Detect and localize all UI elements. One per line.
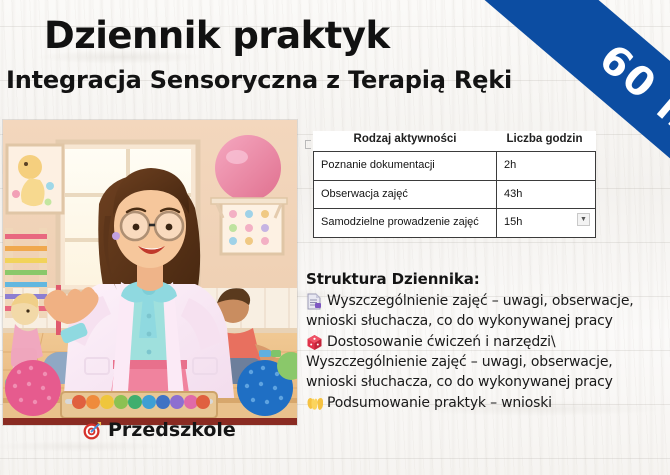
cell-hours: 43h: [497, 180, 596, 209]
structure-heading: Struktura Dziennika:: [306, 270, 668, 288]
table-row: Samodzielne prowadzenie zajęć 15h ▼: [314, 209, 596, 238]
cell-activity: Obserwacja zajęć: [314, 180, 497, 209]
cell-activity: Samodzielne prowadzenie zajęć: [314, 209, 497, 238]
col-header-hours: Liczba godzin: [497, 131, 596, 152]
game-die-icon: [306, 334, 323, 351]
list-item-line: Dostosowanie ćwiczeń i narzędzi\: [327, 333, 555, 352]
list-item: Podsumowanie praktyk – wnioski: [306, 394, 668, 413]
list-item-continuation: wnioski słuchacza, co do wykonywanej pra…: [306, 312, 668, 331]
col-header-activity: Rodzaj aktywności: [314, 131, 497, 152]
list-item-line: Wyszczególnienie zajęć – uwagi, obserwac…: [327, 292, 634, 311]
list-item-continuation: wnioski słuchacza, co do wykonywanej pra…: [306, 373, 668, 392]
therapy-room-illustration: [3, 120, 297, 425]
target-icon: [83, 421, 102, 440]
poster-canvas: 60 h Dziennik praktyk Integracja Sensory…: [0, 0, 670, 475]
school-label: Przedszkole: [108, 419, 236, 441]
school-caption: Przedszkole: [83, 419, 236, 441]
list-item: Wyszczególnienie zajęć – uwagi, obserwac…: [306, 292, 668, 311]
list-item-line: Podsumowanie praktyk – wnioski: [327, 394, 552, 413]
cell-hours-value: 15h: [504, 216, 522, 228]
table-header-row: Rodzaj aktywności Liczba godzin: [314, 131, 596, 152]
list-item: Dostosowanie ćwiczeń i narzędzi\: [306, 333, 668, 352]
table-row: Obserwacja zajęć 43h: [314, 180, 596, 209]
chevron-down-icon[interactable]: ▼: [577, 213, 590, 226]
open-hands-icon: [306, 395, 323, 412]
page-facing-up-icon: [306, 293, 323, 310]
cell-hours: 15h ▼: [497, 209, 596, 238]
structure-section: Struktura Dziennika: Wyszczególnienie za…: [306, 270, 668, 414]
activity-table: Rodzaj aktywności Liczba godzin Poznanie…: [313, 131, 596, 238]
activity-table-wrapper: Rodzaj aktywności Liczba godzin Poznanie…: [313, 131, 596, 238]
cell-hours: 2h: [497, 152, 596, 181]
table-row: Poznanie dokumentacji 2h: [314, 152, 596, 181]
table-row-handle[interactable]: [305, 140, 311, 149]
cell-activity: Poznanie dokumentacji: [314, 152, 497, 181]
page-subtitle: Integracja Sensoryczna z Terapią Ręki: [6, 66, 512, 94]
list-item-continuation: Wyszczególnienie zajęć – uwagi, obserwac…: [306, 353, 668, 372]
page-title: Dziennik praktyk: [44, 14, 390, 57]
